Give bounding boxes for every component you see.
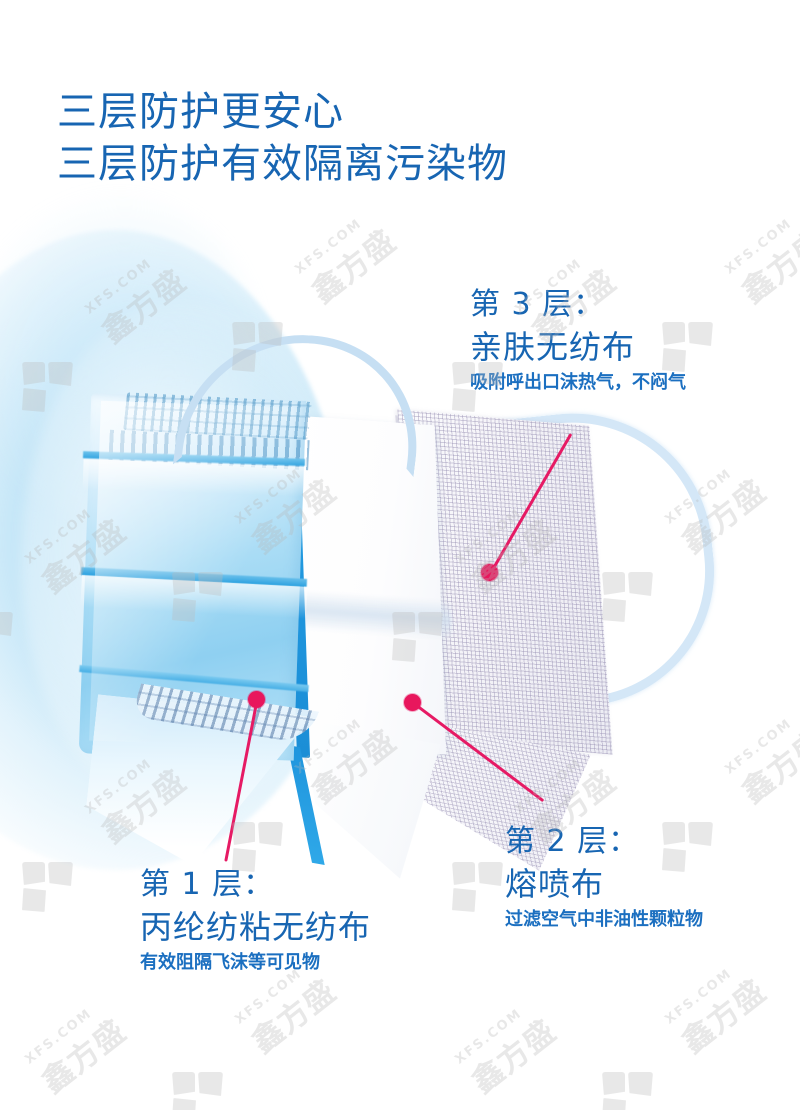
watermark-chinese: 鑫方盛	[300, 217, 403, 312]
watermark-chinese: 鑫方盛	[240, 967, 343, 1062]
callout-layer-1: 第 1 层： 丙纶纺粘无纺布 有效阻隔飞沫等可见物	[140, 865, 371, 977]
watermark-chinese: 鑫方盛	[670, 967, 773, 1062]
watermark-text: XFS.COM鑫方盛	[722, 707, 800, 812]
callout-layer-3: 第 3 层： 亲肤无纺布 吸附呼出口沫热气，不闷气	[470, 285, 686, 397]
pointer-dot-layer-1	[248, 691, 265, 708]
watermark-logo-icon	[602, 1072, 654, 1110]
watermark-english: XFS.COM	[452, 997, 537, 1068]
layer-3-heading: 第 3 层：	[470, 285, 686, 325]
watermark-chinese: 鑫方盛	[460, 1007, 563, 1102]
watermark-chinese: 鑫方盛	[730, 217, 800, 312]
infographic-page: 三层防护更安心 三层防护有效隔离污染物 第 3 层： 亲	[0, 0, 800, 1110]
layer-3-description: 吸附呼出口沫热气，不闷气	[470, 369, 686, 397]
headline-line-2: 三层防护有效隔离污染物	[57, 138, 508, 190]
pointer-dot-layer-3	[481, 564, 498, 581]
watermark-text: XFS.COM鑫方盛	[662, 957, 773, 1062]
watermark-english: XFS.COM	[662, 957, 747, 1028]
watermark-text: XFS.COM鑫方盛	[292, 207, 403, 312]
layer-2-heading: 第 2 层：	[505, 822, 703, 862]
watermark-english: XFS.COM	[292, 207, 377, 278]
layer-1-material: 丙纶纺粘无纺布	[140, 905, 371, 949]
watermark-logo-icon	[172, 1072, 224, 1110]
headline-line-1: 三层防护更安心	[57, 86, 508, 138]
headline-block: 三层防护更安心 三层防护有效隔离污染物	[57, 86, 508, 190]
watermark-logo-icon	[22, 862, 74, 912]
watermark-english: XFS.COM	[22, 997, 107, 1068]
layer-2-description: 过滤空气中非油性颗粒物	[505, 906, 703, 934]
watermark-chinese: 鑫方盛	[30, 1007, 133, 1102]
mask-illustration	[95, 345, 715, 845]
layer-1-heading: 第 1 层：	[140, 865, 371, 905]
watermark-english: XFS.COM	[722, 707, 800, 778]
layer-3-material: 亲肤无纺布	[470, 325, 686, 369]
watermark-text: XFS.COM鑫方盛	[722, 207, 800, 312]
callout-layer-2: 第 2 层： 熔喷布 过滤空气中非油性颗粒物	[505, 822, 703, 934]
watermark-text: XFS.COM鑫方盛	[22, 997, 133, 1102]
layer-2-material: 熔喷布	[505, 862, 703, 906]
pointer-dot-layer-2	[404, 694, 421, 711]
layer-1-description: 有效阻隔飞沫等可见物	[140, 949, 371, 977]
watermark-chinese: 鑫方盛	[730, 717, 800, 812]
watermark-logo-icon	[452, 862, 504, 912]
watermark-text: XFS.COM鑫方盛	[452, 997, 563, 1102]
watermark-english: XFS.COM	[722, 207, 800, 278]
ear-loop-front	[173, 329, 430, 477]
